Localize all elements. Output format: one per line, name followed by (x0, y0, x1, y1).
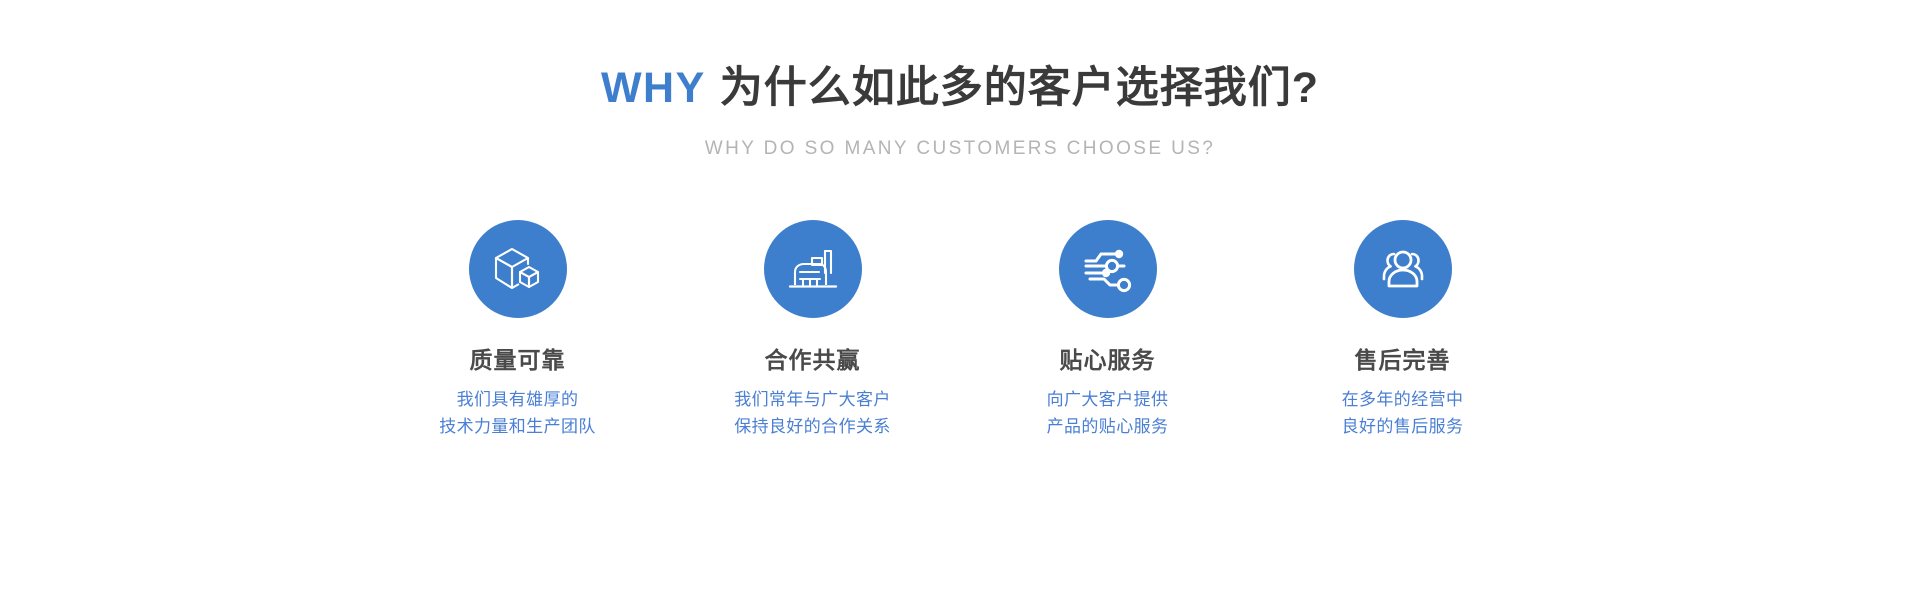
feature-description-line: 产品的贴心服务 (1047, 414, 1169, 440)
feature-icon-circle (1059, 220, 1157, 318)
feature-description-line: 技术力量和生产团队 (439, 414, 596, 440)
feature-title: 质量可靠 (470, 347, 566, 375)
feature-item-cooperation[interactable]: 合作共赢 我们常年与广大客户 保持良好的合作关系 (665, 220, 960, 440)
feature-description-line: 我们具有雄厚的 (439, 387, 596, 413)
circuit-nodes-icon (1080, 241, 1136, 297)
feature-item-aftersales[interactable]: 售后完善 在多年的经营中 良好的售后服务 (1255, 220, 1550, 440)
feature-description: 我们常年与广大客户 保持良好的合作关系 (734, 387, 891, 440)
feature-description: 向广大客户提供 产品的贴心服务 (1047, 387, 1169, 440)
page-title: WHY为什么如此多的客户选择我们? (0, 62, 1920, 116)
feature-description-line: 在多年的经营中 (1342, 387, 1464, 413)
feature-item-quality[interactable]: 质量可靠 我们具有雄厚的 技术力量和生产团队 (370, 220, 665, 440)
why-choose-us-section: WHY为什么如此多的客户选择我们? WHY DO SO MANY CUSTOME… (0, 0, 1920, 615)
feature-description: 在多年的经营中 良好的售后服务 (1342, 387, 1464, 440)
factory-icon (785, 241, 841, 297)
section-heading-block: WHY为什么如此多的客户选择我们? WHY DO SO MANY CUSTOME… (0, 62, 1920, 160)
title-main-text: 为什么如此多的客户选择我们? (720, 64, 1319, 112)
feature-icon-circle (764, 220, 862, 318)
feature-title: 售后完善 (1355, 347, 1451, 375)
feature-description-line: 向广大客户提供 (1047, 387, 1169, 413)
feature-icon-circle (1354, 220, 1452, 318)
page-subtitle: WHY DO SO MANY CUSTOMERS CHOOSE US? (0, 138, 1920, 160)
feature-item-service[interactable]: 贴心服务 向广大客户提供 产品的贴心服务 (960, 220, 1255, 440)
title-highlight-why: WHY (601, 64, 706, 112)
feature-title: 贴心服务 (1060, 347, 1156, 375)
feature-description: 我们具有雄厚的 技术力量和生产团队 (439, 387, 596, 440)
feature-description-line: 保持良好的合作关系 (734, 414, 891, 440)
feature-title: 合作共赢 (765, 347, 861, 375)
package-box-icon (490, 241, 546, 297)
feature-description-line: 良好的售后服务 (1342, 414, 1464, 440)
feature-icon-circle (469, 220, 567, 318)
feature-list: 质量可靠 我们具有雄厚的 技术力量和生产团队 (370, 220, 1550, 440)
feature-description-line: 我们常年与广大客户 (734, 387, 891, 413)
users-group-icon (1375, 241, 1431, 297)
